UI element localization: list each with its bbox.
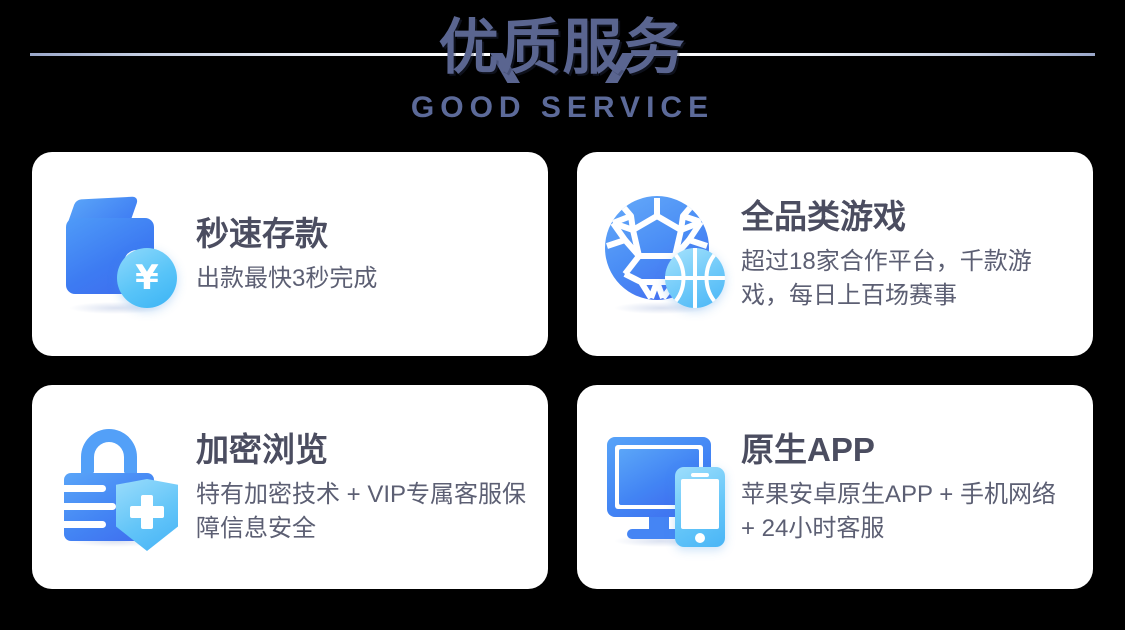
padlock-dash-icon (64, 503, 116, 510)
page-header: 优质服务 GOOD SERVICE (0, 0, 1125, 150)
phone-home-button-icon (695, 533, 705, 543)
card-text-block: 全品类游戏 超过18家合作平台，千款游戏，每日上百场赛事 (741, 196, 1075, 313)
feature-card-all-category-games[interactable]: 全品类游戏 超过18家合作平台，千款游戏，每日上百场赛事 (577, 152, 1093, 356)
page-title: 优质服务 (0, 8, 1125, 88)
feature-card-grid: ¥ 秒速存款 出款最快3秒完成 (32, 152, 1093, 589)
card-text-block: 加密浏览 特有加密技术 + VIP专属客服保障信息安全 (196, 429, 530, 546)
card-title: 原生APP (741, 429, 1075, 471)
feature-card-instant-deposit[interactable]: ¥ 秒速存款 出款最快3秒完成 (32, 152, 548, 356)
wallet-yen-coin-icon: ¥ (58, 190, 186, 318)
card-description: 特有加密技术 + VIP专属客服保障信息安全 (196, 478, 530, 546)
soccer-basketball-icon (603, 190, 731, 318)
phone-speaker-icon (691, 473, 709, 477)
yen-symbol: ¥ (135, 261, 159, 295)
yen-coin-icon: ¥ (117, 248, 177, 308)
page-subtitle: GOOD SERVICE (0, 90, 1125, 126)
phone-screen-icon (681, 479, 719, 529)
monitor-phone-icon (603, 423, 731, 551)
card-title: 秒速存款 (196, 213, 530, 255)
card-text-block: 原生APP 苹果安卓原生APP + 手机网络 + 24小时客服 (741, 429, 1075, 546)
padlock-dash-icon (64, 485, 106, 492)
header-title-block: 优质服务 GOOD SERVICE (0, 8, 1125, 126)
basketball-icon (665, 248, 725, 308)
card-description: 苹果安卓原生APP + 手机网络 + 24小时客服 (741, 478, 1075, 546)
card-title: 全品类游戏 (741, 196, 1075, 238)
card-text-block: 秒速存款 出款最快3秒完成 (196, 213, 530, 296)
feature-card-encrypted-browsing[interactable]: 加密浏览 特有加密技术 + VIP专属客服保障信息安全 (32, 385, 548, 589)
feature-card-native-app[interactable]: 原生APP 苹果安卓原生APP + 手机网络 + 24小时客服 (577, 385, 1093, 589)
padlock-dash-icon (64, 521, 106, 528)
padlock-shield-icon (58, 423, 186, 551)
card-description: 超过18家合作平台，千款游戏，每日上百场赛事 (741, 245, 1075, 313)
card-title: 加密浏览 (196, 429, 530, 471)
shield-cross-icon (130, 506, 164, 518)
card-description: 出款最快3秒完成 (196, 262, 530, 296)
